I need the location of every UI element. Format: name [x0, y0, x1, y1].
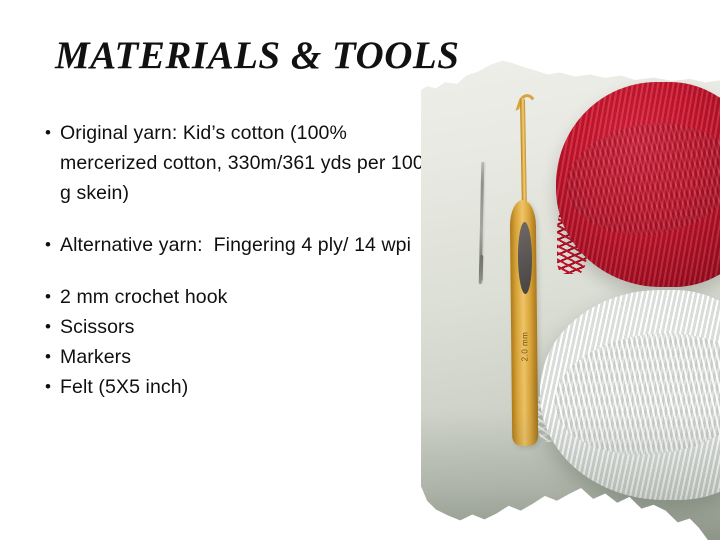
- white-yarn-strand-texture: [547, 322, 720, 465]
- list-item: Alternative yarn: Fingering 4 ply/ 14 wp…: [44, 230, 429, 260]
- materials-photo: 2.0 mm: [418, 50, 720, 540]
- white-yarn-skein: [540, 290, 720, 500]
- crochet-hook-tip-icon: [515, 92, 537, 116]
- crochet-hook-shaft-icon: [520, 98, 527, 216]
- list-item: Markers: [44, 342, 429, 372]
- slide-canvas: MATERIALS & TOOLS Original yarn: Kid’s c…: [0, 0, 720, 540]
- list-item: 2 mm crochet hook: [44, 282, 429, 312]
- page-title: MATERIALS & TOOLS: [55, 33, 459, 78]
- materials-list: Original yarn: Kid’s cotton (100% mercer…: [44, 118, 429, 402]
- bullet-group-original-yarn: Original yarn: Kid’s cotton (100% mercer…: [44, 118, 429, 208]
- needle-eye-icon: [480, 255, 484, 281]
- list-item: Felt (5X5 inch): [44, 372, 429, 402]
- red-yarn-strand-texture: [559, 113, 720, 246]
- list-item: Original yarn: Kid’s cotton (100% mercer…: [44, 118, 429, 208]
- list-item: Scissors: [44, 312, 429, 342]
- crochet-hook-size-label: 2.0 mm: [521, 332, 530, 362]
- bullet-group-alternative-yarn: Alternative yarn: Fingering 4 ply/ 14 wp…: [44, 230, 429, 260]
- bullet-group-tools: 2 mm crochet hook Scissors Markers Felt …: [44, 282, 429, 402]
- photo-torn-paper-surface: 2.0 mm: [418, 50, 720, 540]
